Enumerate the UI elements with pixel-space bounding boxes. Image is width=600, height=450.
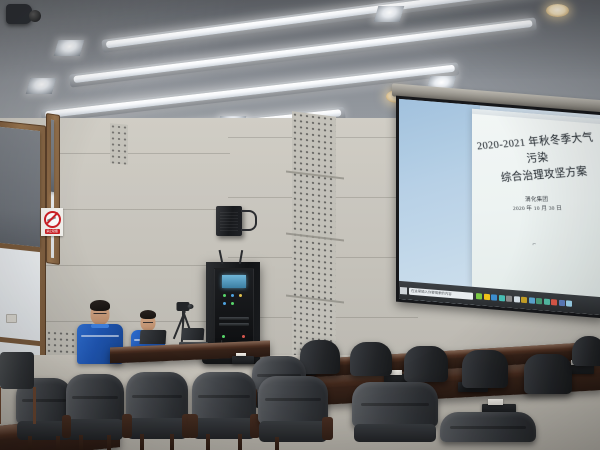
- screen-border: 2020-2021 年秋冬季大气污染 综合治理攻坚方案 渭化集团 2020 年 …: [396, 96, 600, 319]
- taskbar-search-input[interactable]: 在这里输入你要搜索的内容: [409, 287, 473, 299]
- status-led: [231, 302, 234, 305]
- taskbar-app-icon-7[interactable]: [521, 297, 527, 303]
- window: [46, 113, 60, 265]
- person-hair: [90, 300, 110, 311]
- taskbar-app-icon-12[interactable]: [559, 300, 565, 306]
- chair-leg: [275, 437, 279, 450]
- eyeglasses-icon: [143, 322, 153, 326]
- powerpoint-ribbon: [472, 109, 600, 124]
- conference-chair[interactable]: [352, 382, 438, 450]
- rack-status-display: [222, 275, 247, 287]
- projection-screen: 2020-2021 年秋冬季大气污染 综合治理攻坚方案 渭化集团 2020 年 …: [396, 96, 600, 331]
- perforated-acoustic-panel: [110, 123, 128, 165]
- chair-leg: [238, 434, 242, 450]
- chair-armrest: [188, 414, 198, 438]
- person-hair: [140, 310, 156, 319]
- laptop-screen: [182, 328, 205, 340]
- taskbar-app-icon-2[interactable]: [484, 294, 490, 300]
- chair-seat: [259, 421, 326, 441]
- chair-backrest: [126, 372, 188, 422]
- taskbar-app-icon-6[interactable]: [514, 296, 520, 302]
- laptop-screen: [140, 330, 167, 344]
- chair-wooden-frame: [0, 387, 36, 424]
- conference-chair[interactable]: [192, 372, 256, 450]
- status-led: [222, 335, 225, 338]
- ceiling-camera-icon: [6, 4, 32, 24]
- taskbar-app-icon-5[interactable]: [506, 295, 512, 301]
- chair-backrest: [192, 372, 256, 422]
- taskbar-app-icon-4[interactable]: [499, 295, 505, 301]
- conference-chair[interactable]: [404, 346, 448, 382]
- uniform-stripe: [81, 335, 119, 337]
- status-led: [242, 335, 245, 338]
- status-led: [223, 302, 226, 305]
- chair-leg: [107, 435, 111, 450]
- chair-backrest: [66, 374, 124, 422]
- chair-seat: [193, 418, 254, 439]
- chair-seat: [127, 418, 187, 439]
- conference-chair[interactable]: [462, 350, 508, 388]
- taskbar-app-icon-9[interactable]: [536, 298, 542, 304]
- slide-subtitle: 渭化集团 2020 年 10 月 30 日: [479, 195, 596, 214]
- conference-chair[interactable]: [350, 342, 392, 376]
- chair-leg: [56, 436, 60, 450]
- status-led: [239, 294, 242, 297]
- person-collar: [91, 324, 109, 328]
- window-blind[interactable]: [51, 120, 54, 192]
- speaker-bracket-icon: [241, 210, 257, 231]
- taskbar-app-icon-3[interactable]: [491, 294, 497, 300]
- taskbar-app-icon-1[interactable]: [476, 293, 482, 299]
- chair-leg: [28, 436, 32, 450]
- desktop-wallpaper: [399, 99, 480, 306]
- conference-chair[interactable]: [258, 376, 328, 450]
- eyeglasses-icon: [94, 313, 107, 317]
- chair-backrest: [258, 376, 328, 424]
- window-blind[interactable]: [0, 127, 40, 247]
- conference-chair[interactable]: [572, 336, 600, 366]
- slide-title: 2020-2021 年秋冬季大气污染 综合治理攻坚方案: [474, 131, 600, 189]
- chair-armrest: [322, 417, 333, 440]
- taskbar-icons[interactable]: [476, 293, 572, 307]
- text-cursor: ⌐: [532, 242, 535, 248]
- prohibition-icon: [44, 211, 61, 228]
- wall-speaker: [216, 206, 242, 236]
- side-chair[interactable]: [0, 352, 34, 424]
- status-led: [223, 294, 226, 297]
- conference-room-photo: 禁止吸烟 2020-2021 年秋冬季大气污染 综合治理攻坚方案: [0, 0, 600, 450]
- chair-backrest: [0, 352, 34, 389]
- rack-drive-slot[interactable]: [219, 323, 249, 326]
- status-led: [231, 294, 234, 297]
- chair-backrest: [352, 382, 438, 427]
- window: [0, 120, 46, 375]
- cigarette-icon: [47, 216, 56, 221]
- chair-seat: [354, 424, 437, 443]
- conference-chair[interactable]: [440, 412, 536, 450]
- conference-chair[interactable]: [126, 372, 188, 450]
- recessed-downlight: [26, 78, 57, 94]
- chair-leg: [206, 434, 210, 450]
- powerpoint-window[interactable]: 2020-2021 年秋冬季大气污染 综合治理攻坚方案 渭化集团 2020 年 …: [472, 109, 600, 297]
- conference-chair[interactable]: [300, 340, 340, 374]
- conference-chair[interactable]: [524, 354, 572, 394]
- conference-chair[interactable]: [66, 374, 124, 450]
- desk-nameplate: [232, 356, 254, 364]
- chair-leg: [140, 434, 144, 450]
- chair-leg: [79, 435, 83, 450]
- no-smoking-label: 禁止吸烟: [45, 229, 60, 234]
- chair-backrest: [440, 412, 536, 442]
- taskbar-app-icon-8[interactable]: [529, 297, 535, 303]
- recessed-downlight: [546, 4, 569, 17]
- recessed-downlight: [374, 6, 405, 22]
- slide-subtitle-line-2: 2020 年 10 月 30 日: [480, 204, 597, 214]
- start-button-icon[interactable]: [400, 286, 407, 294]
- rack-drive-slot[interactable]: [219, 317, 249, 320]
- taskbar-app-icon-13[interactable]: [566, 300, 572, 306]
- no-smoking-sign: 禁止吸烟: [41, 208, 63, 236]
- recessed-downlight: [54, 40, 85, 56]
- chair-armrest: [62, 415, 71, 438]
- power-outlet[interactable]: [6, 314, 17, 323]
- screen-surface: 2020-2021 年秋冬季大气污染 综合治理攻坚方案 渭化集团 2020 年 …: [399, 99, 600, 315]
- chair-armrest: [122, 414, 132, 438]
- chair-seat: [67, 419, 123, 439]
- chair-leg: [170, 434, 174, 450]
- taskbar-app-icon-10[interactable]: [544, 298, 550, 304]
- taskbar-app-icon-11[interactable]: [551, 299, 557, 305]
